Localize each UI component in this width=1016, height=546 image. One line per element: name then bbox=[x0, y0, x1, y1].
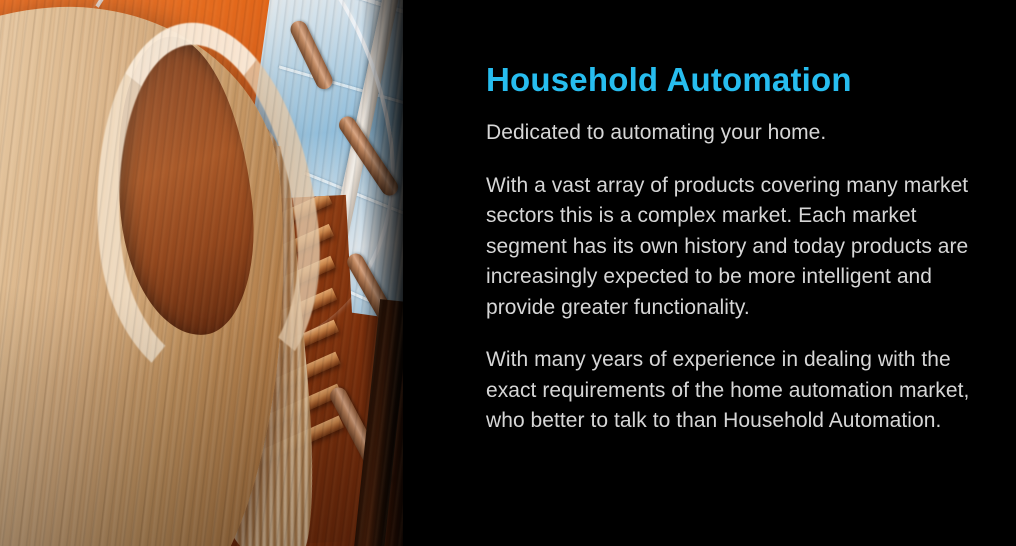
page-title: Household Automation bbox=[486, 60, 852, 100]
content-panel: Household Automation Dedicated to automa… bbox=[403, 0, 1016, 546]
slide-photo bbox=[0, 0, 403, 546]
wood-grain-overlay bbox=[0, 0, 403, 546]
paragraph-experience: With many years of experience in dealing… bbox=[486, 345, 978, 437]
photo-stage bbox=[0, 0, 403, 546]
paragraph-market-overview: With a vast array of products covering m… bbox=[486, 171, 978, 324]
body-copy: Dedicated to automating your home. With … bbox=[486, 118, 978, 437]
paragraph-tagline: Dedicated to automating your home. bbox=[486, 118, 978, 149]
slide: Household Automation Dedicated to automa… bbox=[0, 0, 1016, 546]
